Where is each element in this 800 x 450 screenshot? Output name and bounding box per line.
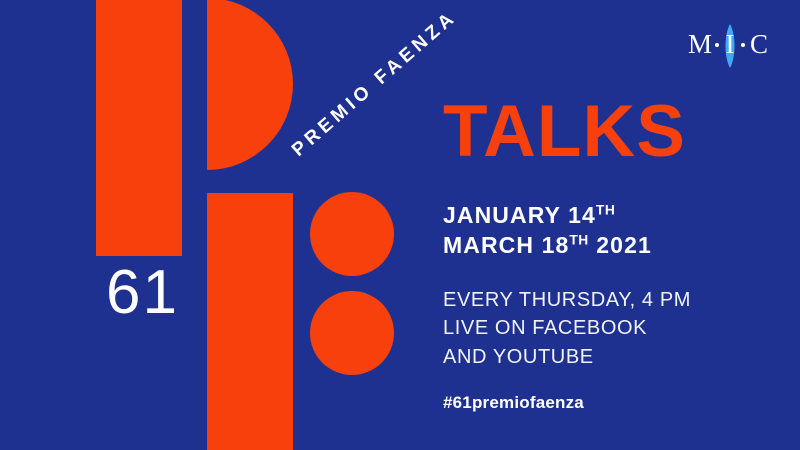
poster-canvas: 61 PREMIO FAENZA M I C TALKS JANUARY 14T… — [0, 0, 800, 450]
mic-logo: M I C — [682, 24, 778, 68]
event-details: EVERY THURSDAY, 4 PM LIVE ON FACEBOOK AN… — [443, 286, 773, 371]
content-block: TALKS JANUARY 14TH MARCH 18TH 2021 EVERY… — [443, 98, 773, 413]
logo-glyph-left-stem — [96, 0, 182, 256]
diagonal-title-wrapper: PREMIO FAENZA — [288, 7, 462, 162]
date-line-2: MARCH 18TH 2021 — [443, 231, 773, 260]
date-line-2-text: MARCH 18 — [443, 232, 569, 258]
mic-letter-c: C — [750, 29, 768, 59]
mic-letter-m: M — [688, 29, 712, 59]
date-line-2-ordinal: TH — [569, 232, 588, 247]
detail-line-1: EVERY THURSDAY, 4 PM — [443, 286, 773, 314]
date-line-1-text: JANUARY 14 — [443, 202, 596, 228]
logo-glyph-half-disc — [207, 0, 293, 170]
mic-dot-left — [715, 43, 719, 47]
logo-glyph-dot-lower — [310, 291, 394, 375]
diagonal-title: PREMIO FAENZA — [288, 7, 462, 162]
date-line-1-ordinal: TH — [596, 203, 615, 218]
edition-number: 61 — [106, 262, 179, 324]
detail-line-3: AND YOUTUBE — [443, 343, 773, 371]
logo-glyph-right-stem — [207, 193, 293, 450]
logo-glyph-dot-upper — [310, 192, 394, 276]
date-year-value: 2021 — [596, 232, 652, 258]
mic-letter-i: I — [726, 29, 735, 59]
mic-dot-right — [741, 43, 745, 47]
mic-logo-icon: M I C — [682, 24, 778, 68]
event-hashtag: #61premiofaenza — [443, 393, 773, 413]
date-line-1: JANUARY 14TH — [443, 201, 773, 230]
detail-line-2: LIVE ON FACEBOOK — [443, 314, 773, 342]
event-dates: JANUARY 14TH MARCH 18TH 2021 — [443, 201, 773, 260]
headline-talks: TALKS — [443, 98, 773, 165]
